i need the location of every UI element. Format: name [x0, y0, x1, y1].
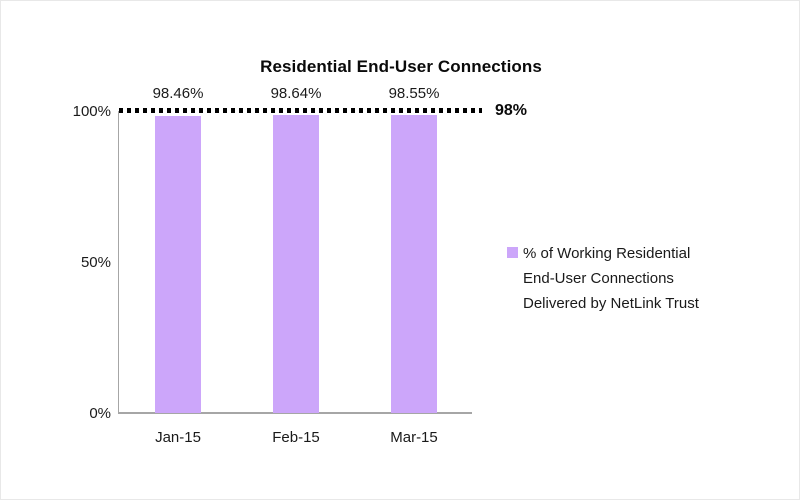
x-tick-label-feb-15: Feb-15 — [237, 429, 355, 446]
legend-text: % of Working Residential End-User Connec… — [523, 241, 777, 316]
chart-canvas: Residential End-User Connections 100% 50… — [0, 0, 800, 500]
bar-column-feb-15 — [237, 111, 355, 413]
y-tick-label-50: 50% — [51, 255, 111, 270]
plot-area — [119, 111, 472, 413]
legend-line-1: % of Working Residential — [523, 241, 777, 266]
bar-column-jan-15 — [119, 111, 237, 413]
data-label-mar-15: 98.55% — [355, 85, 473, 102]
target-line-label: 98% — [495, 102, 527, 120]
chart-title: Residential End-User Connections — [1, 57, 800, 77]
chart-legend: % of Working Residential End-User Connec… — [507, 241, 777, 316]
y-tick-label-0: 0% — [51, 406, 111, 421]
target-line-98 — [119, 108, 482, 113]
bar-column-mar-15 — [355, 111, 473, 413]
bar-mar-15[interactable] — [391, 115, 437, 413]
data-label-jan-15: 98.46% — [119, 85, 237, 102]
bar-feb-15[interactable] — [273, 115, 319, 413]
x-tick-label-mar-15: Mar-15 — [355, 429, 473, 446]
legend-line-2: End-User Connections — [523, 266, 777, 291]
legend-line-3: Delivered by NetLink Trust — [523, 291, 777, 316]
legend-swatch-icon — [507, 247, 518, 258]
x-tick-label-jan-15: Jan-15 — [119, 429, 237, 446]
bar-jan-15[interactable] — [155, 116, 201, 413]
y-axis-labels: 100% 50% 0% — [46, 1, 111, 500]
data-label-feb-15: 98.64% — [237, 85, 355, 102]
y-tick-label-100: 100% — [51, 104, 111, 119]
